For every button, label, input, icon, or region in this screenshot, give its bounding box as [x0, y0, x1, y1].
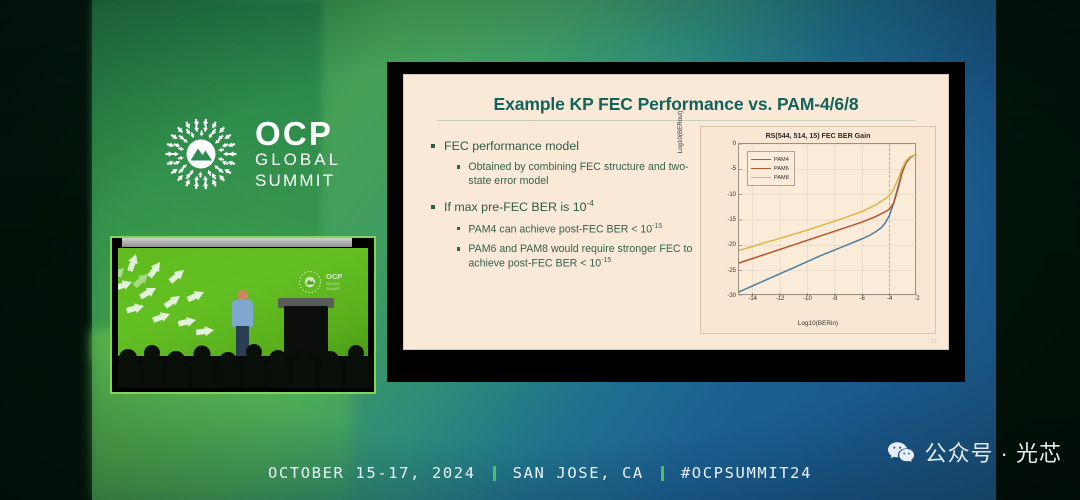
- legend-item: PAM8: [751, 173, 789, 182]
- chart-x-tick: -8: [832, 296, 837, 302]
- bullet-text: PAM6 and PAM8 would require stronger FEC…: [468, 242, 701, 271]
- logo-line-ocp: OCP: [255, 117, 341, 150]
- bullet-level2: Obtained by combining FEC structure and …: [457, 160, 701, 188]
- slide-bullet-list: FEC performance model Obtained by combin…: [431, 137, 701, 271]
- chart-y-tick: -30: [727, 293, 736, 299]
- chart-y-tick: -10: [727, 192, 736, 198]
- bullet-level1: If max pre-FEC BER is 10-4: [431, 199, 701, 215]
- ocp-mountain-arrows-logo-icon: [160, 113, 242, 195]
- legend-label: PAM6: [774, 166, 789, 172]
- legend-item: PAM4: [751, 155, 789, 164]
- bullet-marker-icon: [457, 165, 460, 168]
- logo-line-global: GLOBAL: [255, 150, 341, 171]
- footer-location: SAN JOSE, CA: [513, 464, 644, 482]
- background-left-band: [0, 0, 94, 500]
- bullet-text: FEC performance model: [444, 138, 579, 154]
- chart-y-tick: -20: [727, 242, 736, 248]
- bullet-level2: PAM4 can achieve post-FEC BER < 10-15: [457, 222, 701, 237]
- background-right-band: [996, 0, 1080, 500]
- chart-title: RS(544, 514, 15) FEC BER Gain: [701, 132, 935, 140]
- footer-date: OCTOBER 15-17, 2024: [268, 464, 476, 482]
- screenshot-stage: OCP GLOBAL SUMMIT: [0, 0, 1080, 500]
- stage-backdrop: OCP GLOBAL SUMMIT: [118, 248, 368, 388]
- logo-line-summit: SUMMIT: [255, 171, 341, 192]
- audience-silhouettes: [118, 326, 372, 388]
- chart-x-tick: -2: [914, 296, 919, 302]
- wechat-icon: [887, 441, 915, 464]
- bullet-level2: PAM6 and PAM8 would require stronger FEC…: [457, 242, 701, 271]
- chart-plot-area: PAM4 PAM6 PAM8 -14-12-10-8-6-4-20-5-10-1…: [738, 143, 916, 295]
- slide-page-number: 21: [930, 339, 937, 345]
- chart-x-tick: -12: [776, 296, 785, 302]
- chart-x-axis-label: Log10(BERin): [701, 320, 935, 327]
- legend-item: PAM6: [751, 164, 789, 173]
- chart-y-axis-label: Log10(BERout): [677, 82, 684, 182]
- backdrop-ocp-logo-icon: OCP GLOBAL SUMMIT: [298, 270, 352, 294]
- svg-text:SUMMIT: SUMMIT: [326, 287, 341, 291]
- chart-x-tick: -14: [748, 296, 757, 302]
- chart-y-tick: 0: [733, 141, 736, 147]
- chart-x-tick: -6: [860, 296, 865, 302]
- slide-title: Example KP FEC Performance vs. PAM-4/6/8: [403, 94, 949, 115]
- footer-separator: [493, 466, 496, 481]
- bullet-text: If max pre-FEC BER is 10-4: [444, 199, 594, 215]
- legend-label: PAM8: [774, 175, 789, 181]
- bullet-marker-icon: [431, 144, 435, 148]
- slide-title-divider: [437, 120, 915, 121]
- legend-swatch: [751, 159, 771, 161]
- ocp-logo-text: OCP GLOBAL SUMMIT: [255, 117, 341, 191]
- presentation-slide-frame: Example KP FEC Performance vs. PAM-4/6/8…: [387, 62, 965, 382]
- chart-x-tick: -10: [803, 296, 812, 302]
- projection-screen-top: [122, 238, 352, 247]
- svg-text:OCP: OCP: [326, 272, 342, 281]
- watermark-text: 公众号 · 光芯: [924, 436, 1062, 468]
- conference-stage-photo: OCP GLOBAL SUMMIT: [110, 236, 376, 394]
- chart-x-tick: -4: [887, 296, 892, 302]
- bullet-marker-icon: [457, 247, 460, 250]
- bullet-marker-icon: [457, 227, 460, 230]
- bullet-marker-icon: [431, 205, 435, 209]
- ocp-logo: OCP GLOBAL SUMMIT: [160, 112, 340, 196]
- svg-text:GLOBAL: GLOBAL: [326, 282, 340, 286]
- legend-swatch: [751, 177, 771, 179]
- wechat-watermark: 公众号 · 光芯: [887, 436, 1062, 468]
- chart-y-tick: -25: [727, 268, 736, 274]
- footer-separator: [661, 466, 664, 481]
- bullet-text: Obtained by combining FEC structure and …: [468, 160, 701, 188]
- legend-swatch: [751, 168, 771, 170]
- bullet-level1: FEC performance model: [431, 138, 701, 154]
- fec-ber-chart: RS(544, 514, 15) FEC BER Gain PAM4 PAM6 …: [700, 126, 936, 334]
- chart-y-tick: -5: [731, 166, 736, 172]
- legend-label: PAM4: [774, 157, 789, 163]
- bullet-text: PAM4 can achieve post-FEC BER < 10-15: [468, 222, 662, 237]
- presentation-slide: Example KP FEC Performance vs. PAM-4/6/8…: [403, 74, 949, 350]
- footer-hashtag: #OCPSUMMIT24: [681, 464, 812, 482]
- chart-y-tick: -15: [727, 217, 736, 223]
- chart-legend: PAM4 PAM6 PAM8: [747, 151, 795, 186]
